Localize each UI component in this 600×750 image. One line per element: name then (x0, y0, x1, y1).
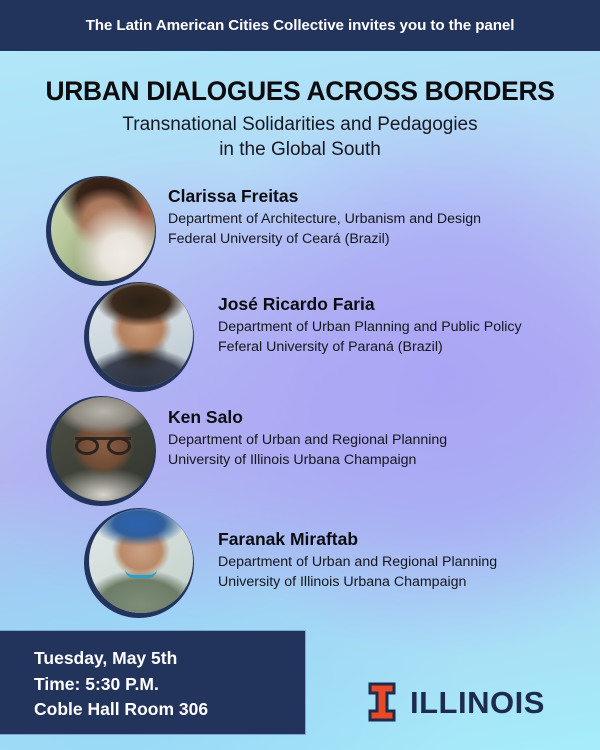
speaker-info-clarissa-freitas: Clarissa Freitas Department of Architect… (168, 186, 481, 249)
portrait-jose-ricardo-faria (84, 282, 194, 392)
speaker-name: Clarissa Freitas (168, 186, 481, 207)
poster-subtitle-line-1: Transnational Solidarities and Pedagogie… (0, 112, 600, 137)
speaker-affiliation: University of Illinois Urbana Champaign (168, 451, 447, 471)
speaker-department: Department of Architecture, Urbanism and… (168, 210, 481, 230)
invitation-banner-text: The Latin American Cities Collective inv… (86, 17, 515, 34)
event-date: Tuesday, May 5th (34, 646, 208, 672)
event-details-text: Tuesday, May 5th Time: 5:30 P.M. Coble H… (34, 646, 208, 723)
portrait-ken-salo (46, 396, 156, 506)
invitation-banner: The Latin American Cities Collective inv… (0, 0, 600, 51)
portrait-faranak-miraftab (84, 508, 194, 618)
speaker-info-jose-ricardo-faria: José Ricardo Faria Department of Urban P… (218, 294, 522, 357)
speaker-department: Department of Urban Planning and Public … (218, 318, 522, 338)
speaker-affiliation: University of Illinois Urbana Champaign (218, 573, 497, 593)
speaker-info-faranak-miraftab: Faranak Miraftab Department of Urban and… (218, 529, 497, 592)
speaker-affiliation: Feferal University of Paraná (Brazil) (218, 338, 522, 358)
speaker-affiliation: Federal University of Ceará (Brazil) (168, 230, 481, 250)
event-poster: The Latin American Cities Collective inv… (0, 0, 600, 750)
speaker-department: Department of Urban and Regional Plannin… (218, 553, 497, 573)
speaker-name: José Ricardo Faria (218, 294, 522, 315)
poster-subtitle-line-2: in the Global South (0, 137, 600, 162)
event-location: Coble Hall Room 306 (34, 697, 208, 723)
speaker-name: Ken Salo (168, 407, 447, 428)
speaker-name: Faranak Miraftab (218, 529, 497, 550)
illinois-logo: ILLINOIS (368, 682, 545, 722)
event-details-box: Tuesday, May 5th Time: 5:30 P.M. Coble H… (0, 630, 306, 735)
event-time: Time: 5:30 P.M. (34, 672, 208, 698)
speaker-info-ken-salo: Ken Salo Department of Urban and Regiona… (168, 407, 447, 470)
illinois-wordmark: ILLINOIS (410, 687, 545, 718)
poster-title: URBAN DIALOGUES ACROSS BORDERS (0, 76, 600, 107)
speaker-department: Department of Urban and Regional Plannin… (168, 431, 447, 451)
illinois-block-i-icon (368, 682, 396, 722)
poster-subtitle: Transnational Solidarities and Pedagogie… (0, 112, 600, 162)
portrait-clarissa-freitas (46, 176, 156, 286)
